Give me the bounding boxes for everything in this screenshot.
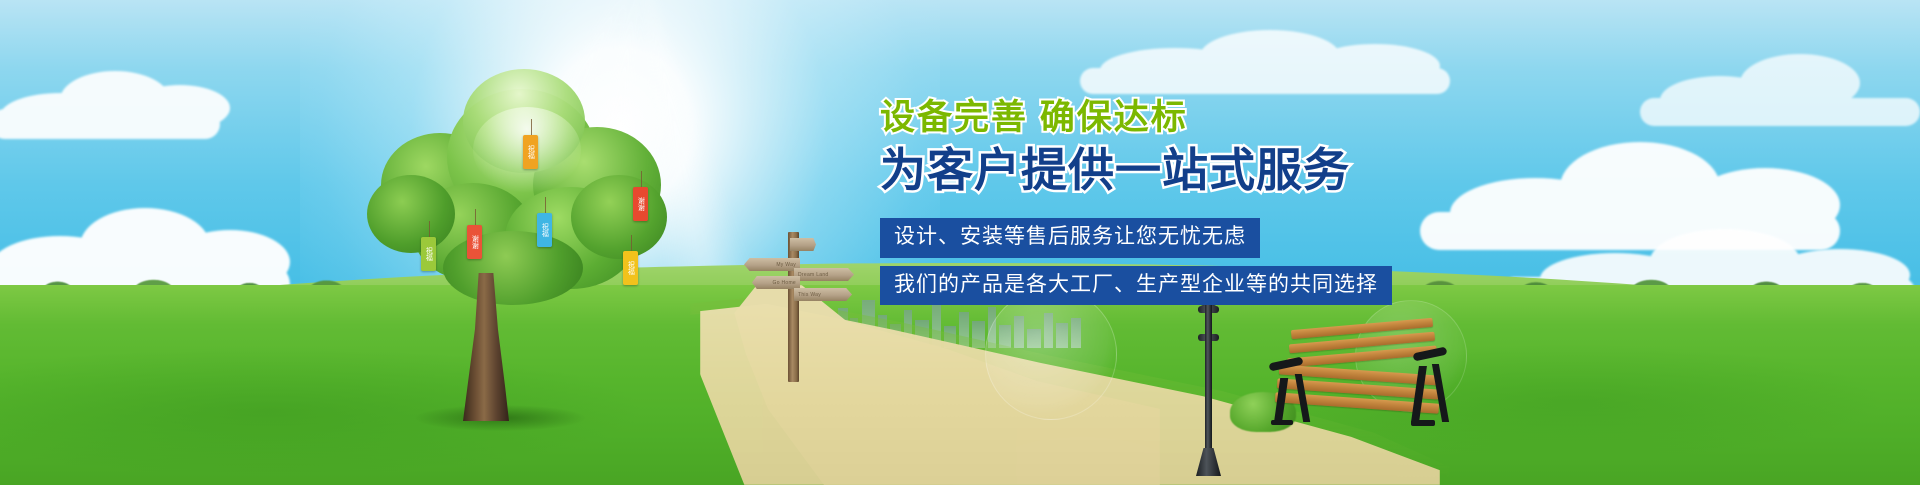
cloud-left-upper (0, 55, 250, 145)
hero-banner: 祝福 谢谢 祝福 谢谢 祝福 祝福 My Way Dream Land Go H… (0, 0, 1920, 485)
street-lamp (1195, 288, 1221, 478)
wooden-signpost: My Way Dream Land Go Home This Way (740, 232, 850, 382)
signpost-arm-top (790, 238, 816, 251)
cloud-far-right (1640, 40, 1920, 130)
bench-foot-right (1411, 420, 1435, 426)
signpost-label: Go Home (773, 280, 797, 286)
signpost-pole (788, 232, 799, 382)
cloud-top-right (1080, 18, 1460, 98)
tree-tag-label: 祝福 (527, 145, 535, 159)
signpost-arm-my-way: My Way (744, 258, 800, 271)
subtitle-bar-2: 我们的产品是各大工厂、生产型企业等的共同选择 (880, 266, 1392, 306)
tree-tag: 谢谢 (467, 225, 482, 259)
lamp-base (1196, 448, 1221, 476)
headline-secondary: 为客户提供一站式服务 (880, 145, 1500, 196)
park-bench (1265, 322, 1445, 462)
bench-foot-left (1271, 420, 1293, 425)
tree-tag-label: 祝福 (425, 247, 433, 261)
headline-primary: 设备完善 确保达标 (880, 98, 1500, 137)
tree-tag: 谢谢 (633, 187, 648, 221)
tree-tag-label: 祝福 (627, 261, 635, 275)
tree-tag-label: 祝福 (541, 223, 549, 237)
signpost-arm-go-home: Go Home (752, 276, 800, 289)
tree-tag-label: 谢谢 (471, 235, 479, 249)
signpost-label: This Way (798, 292, 821, 298)
subtitle-row-1: 设计、安装等售后服务让您无忧无虑 (880, 218, 1500, 266)
subtitle-row-2: 我们的产品是各大工厂、生产型企业等的共同选择 (880, 266, 1500, 314)
tree-tag: 祝福 (537, 213, 552, 247)
tree-tag-label: 谢谢 (637, 197, 645, 211)
tree-tag: 祝福 (623, 251, 638, 285)
big-tree: 祝福 谢谢 祝福 谢谢 祝福 祝福 (355, 55, 685, 395)
tree-tag: 祝福 (523, 135, 538, 169)
banner-copy: 设备完善 确保达标 为客户提供一站式服务 设计、安装等售后服务让您无忧无虑 我们… (880, 98, 1500, 313)
signpost-arm-dream-land: Dream Land (794, 268, 854, 281)
lamp-pole (1205, 300, 1212, 450)
signpost-label: Dream Land (798, 272, 829, 278)
tree-canopy (355, 55, 685, 395)
subtitle-bar-1: 设计、安装等售后服务让您无忧无虑 (880, 218, 1260, 258)
signpost-label: My Way (776, 262, 796, 268)
tree-tag: 祝福 (421, 237, 436, 271)
signpost-arm-this-way: This Way (794, 288, 852, 301)
